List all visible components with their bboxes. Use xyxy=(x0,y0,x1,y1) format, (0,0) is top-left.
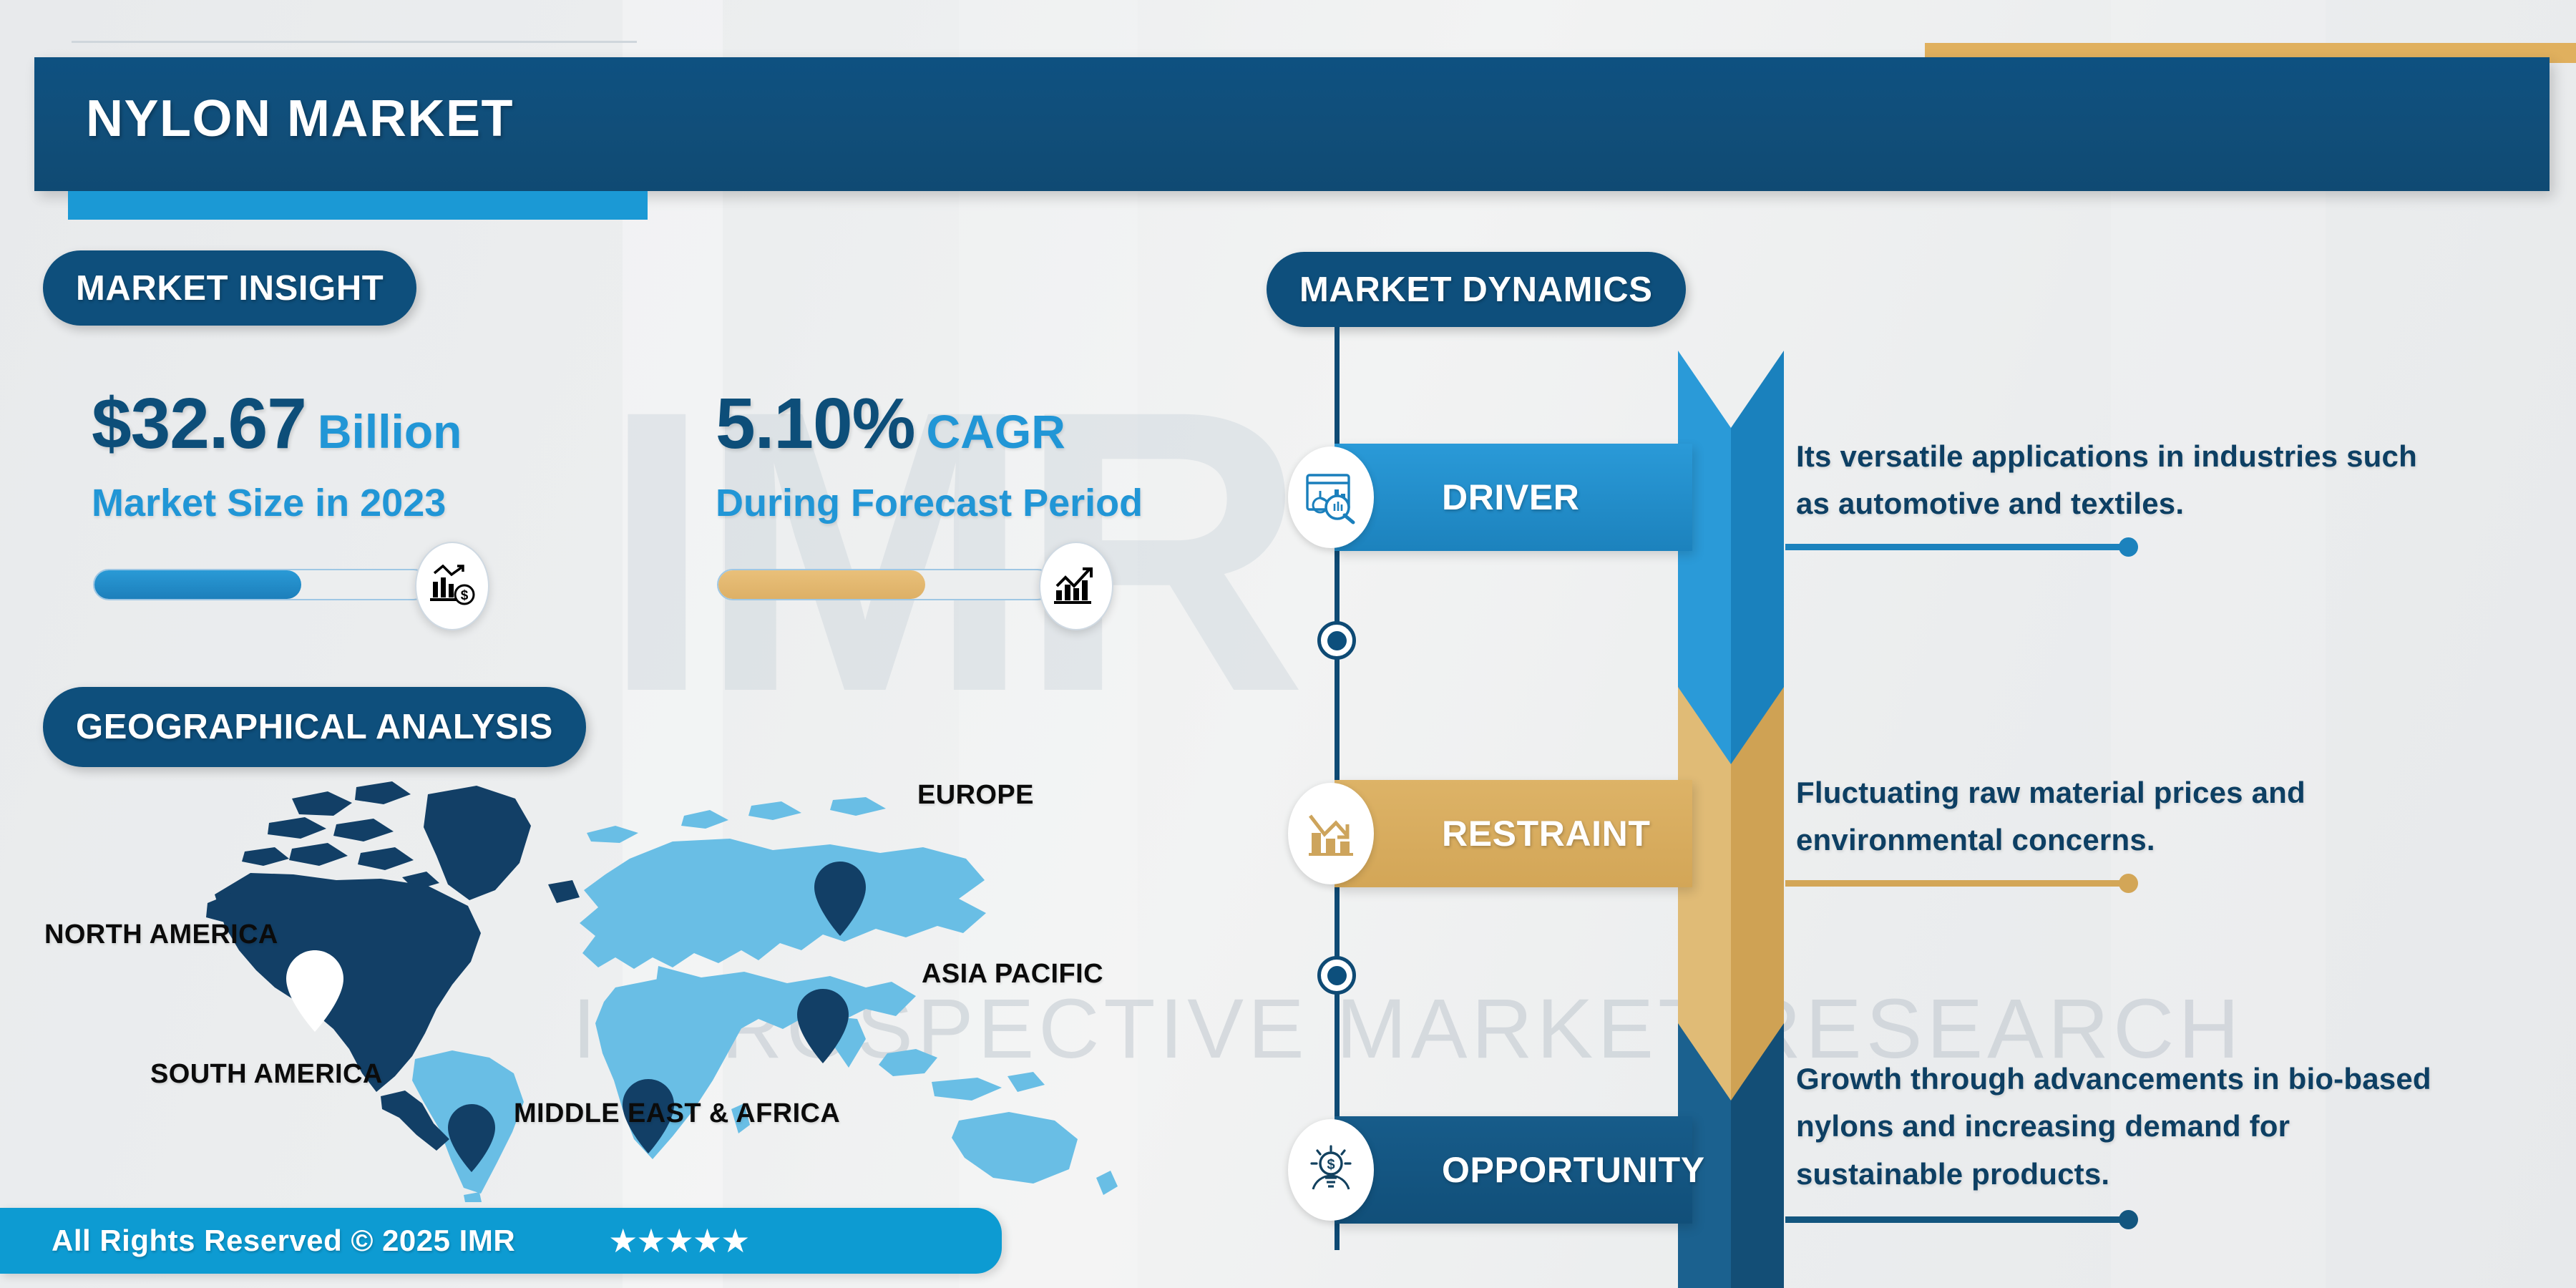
market-size-value: $32.67 xyxy=(92,383,306,465)
market-size-progress-fill xyxy=(94,570,301,599)
market-dynamics-label: MARKET DYNAMICS xyxy=(1267,270,1686,310)
opportunity-connector xyxy=(1785,1216,2129,1223)
infographic-canvas: IMR INTROSPECTIVE MARKET RESEARCH NYLON … xyxy=(0,0,2576,1288)
lightbulb-dollar-icon: $ xyxy=(1288,1119,1374,1221)
restraint-bar: RESTRAINT xyxy=(1335,780,1692,887)
market-size-progress-track xyxy=(93,569,429,600)
region-label-north-america: NORTH AMERICA xyxy=(44,919,278,950)
market-insight-label: MARKET INSIGHT xyxy=(43,268,416,308)
region-label-middle-east-africa: MIDDLE EAST & AFRICA xyxy=(514,1098,840,1129)
section-heading-geographical-analysis: GEOGRAPHICAL ANALYSIS xyxy=(43,687,586,767)
svg-text:$: $ xyxy=(461,588,469,603)
region-label-south-america: SOUTH AMERICA xyxy=(150,1059,383,1090)
cagr-value: 5.10% xyxy=(716,383,915,465)
kpi-market-size: $32.67Billion Market Size in 2023 xyxy=(92,383,462,525)
kpi-cagr: 5.10%CAGR During Forecast Period xyxy=(716,383,1143,525)
cagr-progress-fill xyxy=(718,570,925,599)
timeline-node xyxy=(1317,621,1356,660)
cagr-progress-track xyxy=(717,569,1053,600)
opportunity-label: OPPORTUNITY xyxy=(1335,1149,1705,1191)
opportunity-bar: OPPORTUNITY xyxy=(1335,1116,1692,1224)
page-title: NYLON MARKET xyxy=(86,89,1374,148)
header-blue-accent xyxy=(68,191,648,220)
header-rule xyxy=(72,41,637,43)
growth-arrow-chart-icon xyxy=(1039,542,1113,630)
region-label-asia-pacific: ASIA PACIFIC xyxy=(922,959,1103,990)
declining-bar-chart-icon xyxy=(1288,783,1374,884)
section-heading-market-insight: MARKET INSIGHT xyxy=(43,250,416,326)
rating-stars: ★★★★★ xyxy=(608,1221,748,1260)
cagr-caption: During Forecast Period xyxy=(716,481,1143,525)
bar-chart-dollar-icon: $ xyxy=(415,542,489,630)
section-heading-market-dynamics: MARKET DYNAMICS xyxy=(1267,252,1686,327)
dashboard-magnifier-icon xyxy=(1288,447,1374,548)
driver-description: Its versatile applications in industries… xyxy=(1796,433,2440,528)
timeline-node xyxy=(1317,956,1356,995)
map-highlighted-region-north-america xyxy=(206,781,580,1151)
driver-bar: DRIVER xyxy=(1335,444,1692,551)
restraint-label: RESTRAINT xyxy=(1335,813,1651,854)
cagr-unit: CAGR xyxy=(927,404,1065,459)
market-size-unit: Billion xyxy=(318,404,462,459)
region-label-europe: EUROPE xyxy=(917,780,1034,811)
driver-connector xyxy=(1785,544,2129,550)
restraint-description: Fluctuating raw material prices and envi… xyxy=(1796,769,2440,864)
svg-text:$: $ xyxy=(1327,1157,1335,1173)
market-size-caption: Market Size in 2023 xyxy=(92,481,462,525)
footer-bar: All Rights Reserved © 2025 IMR ★★★★★ xyxy=(0,1208,1002,1274)
restraint-connector xyxy=(1785,880,2129,887)
opportunity-description: Growth through advancements in bio-based… xyxy=(1796,1055,2454,1198)
geographical-analysis-label: GEOGRAPHICAL ANALYSIS xyxy=(43,707,586,747)
copyright-text: All Rights Reserved © 2025 IMR xyxy=(52,1224,515,1258)
